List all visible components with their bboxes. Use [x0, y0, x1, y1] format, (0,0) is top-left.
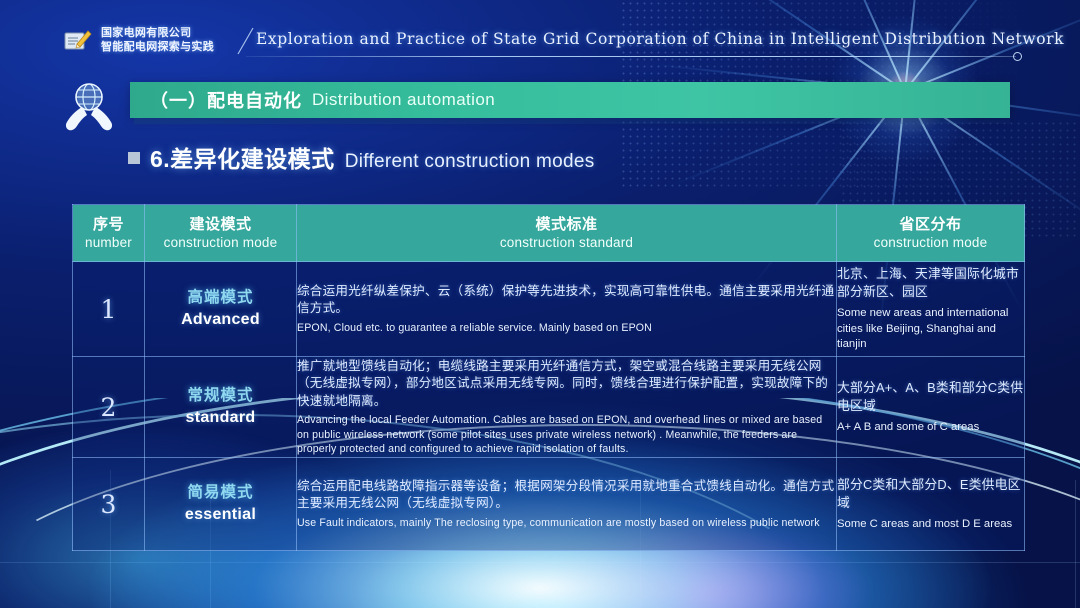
cell-mode: 高端模式 Advanced — [145, 262, 297, 357]
table-row: 3 简易模式 essential 综合运用配电线路故障指示器等设备；根据网架分段… — [73, 458, 1025, 551]
cell-region-en: Some C areas and most D E areas — [837, 517, 1024, 533]
section-title-cn: （一）配电自动化 — [150, 87, 302, 113]
construction-modes-table: 序号 number 建设模式 construction mode 模式标准 co… — [72, 204, 1025, 551]
table-header-row: 序号 number 建设模式 construction mode 模式标准 co… — [73, 205, 1025, 262]
cell-mode-en: essential — [145, 504, 296, 526]
section-banner-shadow — [134, 118, 1010, 124]
globe-in-hands-icon — [58, 78, 120, 136]
header-rule — [246, 56, 1016, 57]
brand-logo: 国家电网有限公司 智能配电网探索与实践 — [64, 27, 214, 54]
slide-header: 国家电网有限公司 智能配电网探索与实践 Exploration and Prac… — [0, 0, 1080, 62]
slide-canvas: 国家电网有限公司 智能配电网探索与实践 Exploration and Prac… — [0, 0, 1080, 608]
cell-standard-cn: 综合运用配电线路故障指示器等设备；根据网架分段情况采用就地重合式馈线自动化。通信… — [297, 478, 836, 513]
section-banner[interactable]: （一）配电自动化 Distribution automation — [130, 82, 1010, 118]
brand-line-1: 国家电网有限公司 — [101, 27, 214, 41]
cell-standard: 综合运用光纤纵差保护、云（系统）保护等先进技术，实现高可靠性供电。通信主要采用光… — [297, 262, 837, 357]
cell-standard-en: EPON, Cloud etc. to guarantee a reliable… — [297, 321, 836, 336]
column-header-number-cn: 序号 — [73, 216, 144, 234]
header-divider — [236, 26, 256, 56]
cell-region: 大部分A+、A、B类和部分C类供电区域 A+ A B and some of C… — [837, 357, 1025, 458]
cell-region-cn: 部分C类和大部分D、E类供电区域 — [837, 476, 1024, 512]
header-rule-endpoint — [1013, 52, 1022, 61]
cell-mode-en: standard — [145, 407, 296, 429]
cell-region: 部分C类和大部分D、E类供电区域 Some C areas and most D… — [837, 458, 1025, 551]
cell-number: 2 — [73, 357, 145, 458]
column-header-region-en: construction mode — [837, 234, 1024, 251]
cell-mode-cn: 常规模式 — [145, 385, 296, 407]
section-title-en: Distribution automation — [312, 90, 495, 110]
cell-mode: 常规模式 standard — [145, 357, 297, 458]
column-header-region: 省区分布 construction mode — [837, 205, 1025, 262]
brand-logo-text: 国家电网有限公司 智能配电网探索与实践 — [101, 27, 214, 54]
brand-line-2: 智能配电网探索与实践 — [101, 41, 214, 55]
column-header-construction-standard-cn: 模式标准 — [297, 216, 836, 234]
page-title: Exploration and Practice of State Grid C… — [256, 30, 1064, 48]
cell-standard-cn: 综合运用光纤纵差保护、云（系统）保护等先进技术，实现高可靠性供电。通信主要采用光… — [297, 283, 836, 318]
cell-mode-en: Advanced — [145, 309, 296, 331]
cell-mode: 简易模式 essential — [145, 458, 297, 551]
cell-region-cn: 大部分A+、A、B类和部分C类供电区域 — [837, 379, 1024, 415]
column-header-construction-mode: 建设模式 construction mode — [145, 205, 297, 262]
cell-region: 北京、上海、天津等国际化城市部分新区、园区 Some new areas and… — [837, 262, 1025, 357]
table-row: 1 高端模式 Advanced 综合运用光纤纵差保护、云（系统）保护等先进技术，… — [73, 262, 1025, 357]
square-bullet-icon — [128, 152, 140, 164]
cell-standard-en: Use Fault indicators, mainly The reclosi… — [297, 516, 836, 531]
subsection-heading: 6.差异化建设模式 Different construction modes — [128, 140, 595, 174]
cell-number: 1 — [73, 262, 145, 357]
cell-mode-cn: 高端模式 — [145, 287, 296, 309]
table-row: 2 常规模式 standard 推广就地型馈线自动化；电缆线路主要采用光纤通信方… — [73, 357, 1025, 458]
column-header-construction-standard-en: construction standard — [297, 234, 836, 251]
cell-mode-cn: 简易模式 — [145, 482, 296, 504]
column-header-construction-mode-cn: 建设模式 — [145, 216, 296, 234]
cell-region-en: A+ A B and some of C areas — [837, 420, 1024, 436]
cell-standard-cn: 推广就地型馈线自动化；电缆线路主要采用光纤通信方式，架空或混合线路主要采用无线公… — [297, 358, 836, 411]
cell-standard: 推广就地型馈线自动化；电缆线路主要采用光纤通信方式，架空或混合线路主要采用无线公… — [297, 357, 837, 458]
column-header-region-cn: 省区分布 — [837, 216, 1024, 234]
subsection-title-cn: 6.差异化建设模式 — [150, 140, 335, 174]
cell-region-cn: 北京、上海、天津等国际化城市部分新区、园区 — [837, 265, 1024, 301]
column-header-number-en: number — [73, 234, 144, 251]
notebook-pen-icon — [64, 28, 94, 54]
column-header-construction-standard: 模式标准 construction standard — [297, 205, 837, 262]
cell-standard: 综合运用配电线路故障指示器等设备；根据网架分段情况采用就地重合式馈线自动化。通信… — [297, 458, 837, 551]
column-header-number: 序号 number — [73, 205, 145, 262]
cell-number: 3 — [73, 458, 145, 551]
column-header-construction-mode-en: construction mode — [145, 234, 296, 251]
cell-region-en: Some new areas and international cities … — [837, 306, 1024, 353]
subsection-title-en: Different construction modes — [345, 151, 595, 173]
cell-standard-en: Advancing the local Feeder Automation. C… — [297, 413, 836, 457]
